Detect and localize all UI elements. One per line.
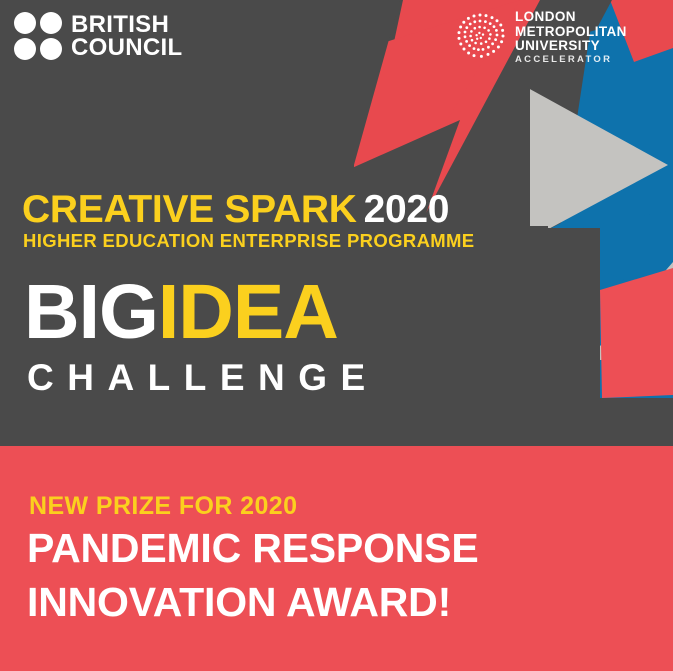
banner-title-line-1: PANDEMIC RESPONSE <box>27 525 478 572</box>
bc-dot-4 <box>40 38 62 60</box>
prize-banner: NEW PRIZE FOR 2020 PANDEMIC RESPONSE INN… <box>0 446 673 671</box>
london-met-wordmark: LONDON METROPOLITAN UNIVERSITY ACCELERAT… <box>515 8 627 65</box>
banner-title-line-2: INNOVATION AWARD! <box>27 579 451 626</box>
idea-word: IDEA <box>158 269 338 355</box>
bc-dot-3 <box>14 38 36 60</box>
programme-subtitle: HIGHER EDUCATION ENTERPRISE PROGRAMME <box>23 230 475 252</box>
challenge-word: CHALLENGE <box>27 357 379 399</box>
banner-kicker: NEW PRIZE FOR 2020 <box>29 492 297 521</box>
london-met-line-2: METROPOLITAN <box>515 25 627 40</box>
creative-spark-headline: CREATIVE SPARK2020 <box>22 188 449 232</box>
london-met-line-4: ACCELERATOR <box>515 55 627 65</box>
bc-dot-2 <box>40 12 62 34</box>
british-council-wordmark: BRITISH COUNCIL <box>71 13 182 60</box>
creative-spark-text: CREATIVE SPARK <box>22 188 357 231</box>
big-word: BIG <box>24 269 158 355</box>
london-met-line-3: UNIVERSITY <box>515 39 627 54</box>
british-council-line-1: BRITISH <box>71 13 182 36</box>
london-met-line-1: LONDON <box>515 10 627 25</box>
big-idea-headline: BIGIDEA <box>24 274 338 351</box>
british-council-line-2: COUNCIL <box>71 36 182 59</box>
bc-dot-1 <box>14 12 36 34</box>
creative-spark-big-idea-challenge-poster: BRITISH COUNCIL <box>0 0 673 671</box>
creative-spark-year: 2020 <box>364 188 450 231</box>
british-council-dots-icon <box>14 12 62 60</box>
london-met-logo: LONDON METROPOLITAN UNIVERSITY ACCELERAT… <box>452 8 627 65</box>
british-council-logo: BRITISH COUNCIL <box>14 12 182 60</box>
upper-panel: BRITISH COUNCIL <box>0 0 673 446</box>
london-met-spiral-dots-icon <box>452 8 508 64</box>
